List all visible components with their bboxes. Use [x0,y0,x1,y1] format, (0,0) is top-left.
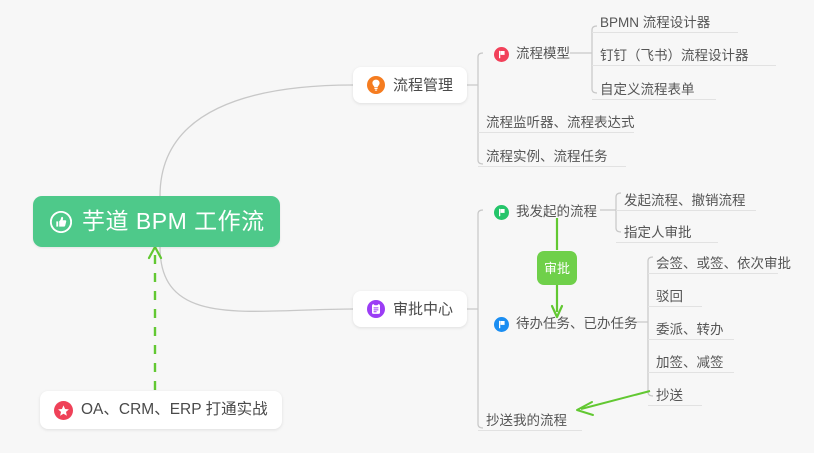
node-label-delegate-transfer: 委派、转办 [656,323,724,337]
branch-node-process-management[interactable]: 流程管理 [353,67,467,103]
star-icon [54,401,73,420]
node-label-my-initiated: 我发起的流程 [516,205,597,219]
branch-label-process-management: 流程管理 [393,78,453,93]
node-label-countersign: 会签、或签、依次审批 [656,257,791,271]
node-label-reject: 驳回 [656,290,683,304]
node-todo-done[interactable]: 待办任务、已办任务 [490,311,632,337]
lightbulb-icon [367,76,385,94]
node-label-assignee-approval: 指定人审批 [624,226,692,240]
root-node[interactable]: 芋道 BPM 工作流 [33,196,280,247]
node-label-cc-to-me: 抄送我的流程 [486,414,567,428]
node-delegate-transfer[interactable]: 委派、转办 [648,314,734,340]
node-start-cancel-process[interactable]: 发起流程、撤销流程 [616,185,756,211]
node-cc-to-me[interactable]: 抄送我的流程 [478,405,582,431]
approval-badge-label: 审批 [544,262,570,275]
footnote-node[interactable]: OA、CRM、ERP 打通实战 [40,391,282,429]
node-dingtalk-designer[interactable]: 钉钉（飞书）流程设计器 [592,40,776,66]
node-add-remove-sign[interactable]: 加签、减签 [648,347,734,373]
node-label-add-remove-sign: 加签、减签 [656,356,724,370]
mindmap-canvas: 芋道 BPM 工作流 流程管理 流程模型 BPMN 流程设计器 钉钉（飞书）流程… [0,0,814,453]
flag-icon [494,205,509,220]
node-label-start-cancel-process: 发起流程、撤销流程 [624,194,746,208]
node-label-process-instance: 流程实例、流程任务 [486,150,608,164]
footnote-label: OA、CRM、ERP 打通实战 [81,402,268,418]
node-label-process-listener: 流程监听器、流程表达式 [486,116,635,130]
node-label-custom-form: 自定义流程表单 [600,83,695,97]
branch-node-approval-center[interactable]: 审批中心 [353,291,467,327]
node-label-todo-done: 待办任务、已办任务 [516,317,638,331]
node-custom-form[interactable]: 自定义流程表单 [592,74,716,100]
node-assignee-approval[interactable]: 指定人审批 [616,217,718,243]
node-cc[interactable]: 抄送 [648,380,702,406]
flag-icon [494,47,509,62]
node-label-process-model: 流程模型 [516,47,570,61]
branch-label-approval-center: 审批中心 [393,302,453,317]
node-process-model[interactable]: 流程模型 [490,41,570,67]
root-label: 芋道 BPM 工作流 [82,210,265,233]
node-countersign[interactable]: 会签、或签、依次审批 [648,248,778,274]
approval-badge[interactable]: 审批 [537,251,577,285]
flag-icon [494,317,509,332]
node-reject[interactable]: 驳回 [648,281,702,307]
node-label-bpmn-designer: BPMN 流程设计器 [600,16,710,30]
node-my-initiated[interactable]: 我发起的流程 [490,199,600,225]
node-label-cc: 抄送 [656,389,683,403]
clipboard-icon [367,300,385,318]
node-label-dingtalk-designer: 钉钉（飞书）流程设计器 [600,49,749,63]
node-process-instance[interactable]: 流程实例、流程任务 [478,141,626,167]
node-bpmn-designer[interactable]: BPMN 流程设计器 [592,7,738,33]
node-process-listener[interactable]: 流程监听器、流程表达式 [478,107,634,133]
thumbs-up-icon [50,211,72,233]
